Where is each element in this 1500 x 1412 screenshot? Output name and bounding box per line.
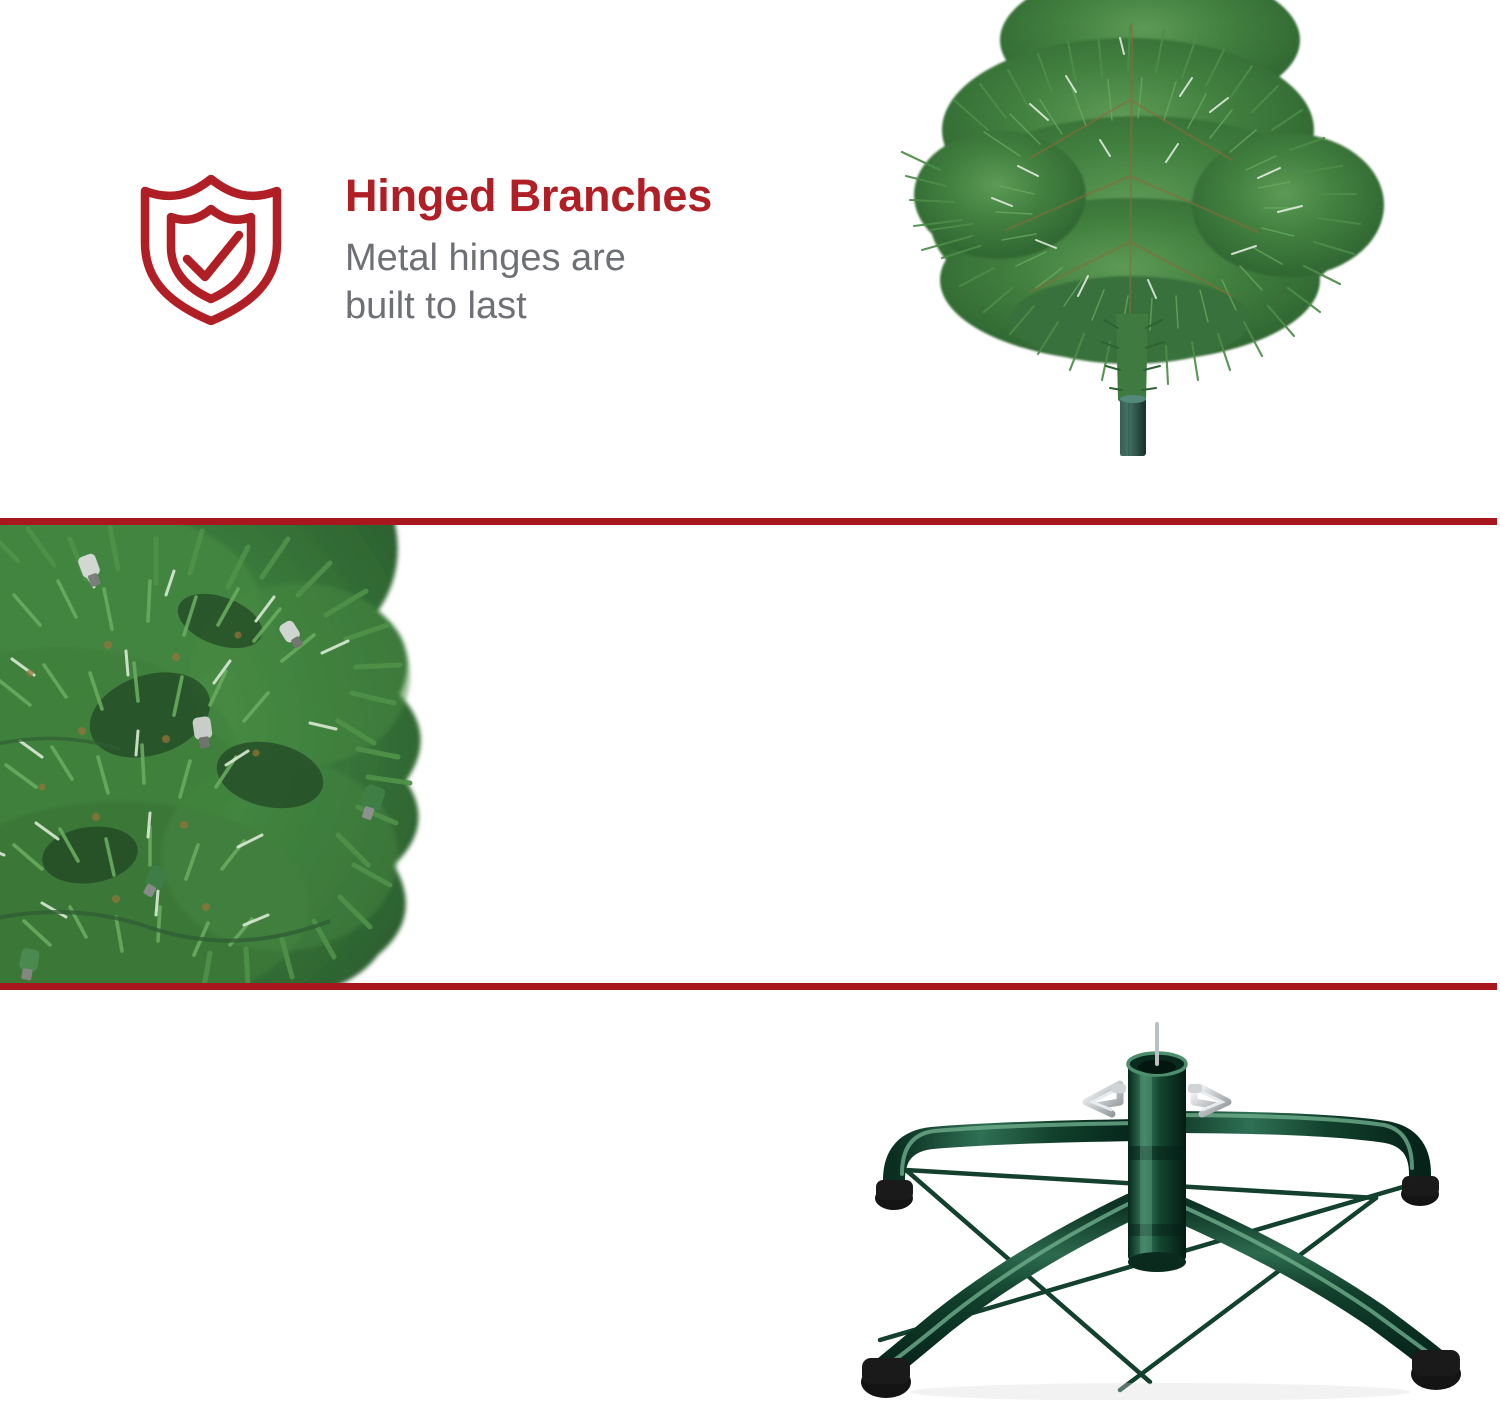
panel-hinged-branches: Hinged Branches Metal hinges are built t…	[0, 0, 1500, 518]
feature-title-hinged-branches: Hinged Branches	[345, 172, 712, 220]
feature-text-hinged-branches: Hinged Branches Metal hinges are built t…	[345, 172, 712, 331]
divider-line-bottom	[0, 983, 1497, 990]
panel-sturdy-base: Sturdy Base A reliable metal stand for y…	[0, 990, 1500, 1412]
shield-check-icon	[133, 165, 293, 325]
photo-tree-stand	[820, 1010, 1480, 1400]
feature-description-hinged-branches: Metal hinges are built to last	[345, 234, 712, 331]
product-feature-infographic: Hinged Branches Metal hinges are built t…	[0, 0, 1500, 1412]
photo-hinged-branch	[880, 0, 1440, 480]
divider-line-top	[0, 518, 1497, 525]
photo-pvc-tips	[0, 525, 500, 983]
panel-pvc-tips: PVC Tips Flame-retardant and easy to flu…	[0, 525, 1500, 983]
